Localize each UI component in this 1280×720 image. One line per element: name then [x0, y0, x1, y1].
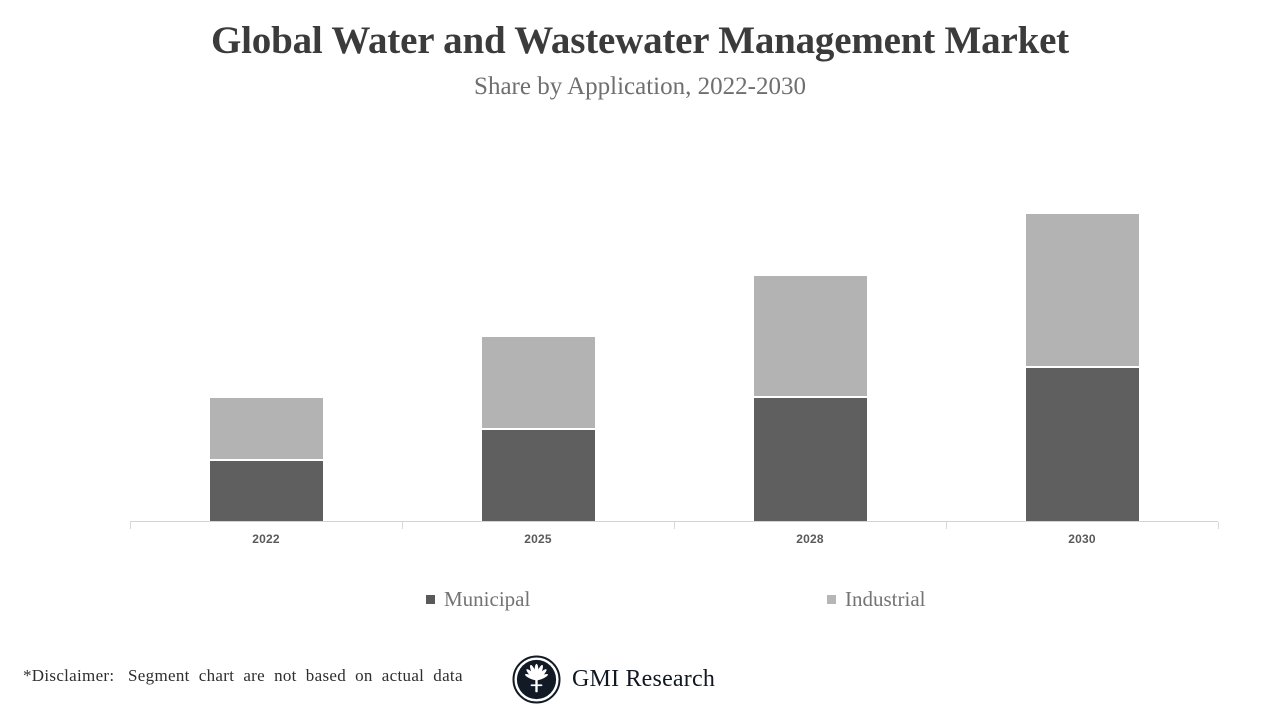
bar-group-2022 [210, 180, 323, 522]
legend-label-municipal: Municipal [444, 585, 530, 613]
bar-group-2025 [482, 180, 595, 522]
plot-area [130, 180, 1218, 522]
bar-segment-municipal-2030[interactable] [1026, 368, 1139, 522]
bar-segment-municipal-2022[interactable] [210, 461, 323, 522]
x-axis-label-2028: 2028 [674, 532, 946, 546]
bar-segment-municipal-2025[interactable] [482, 430, 595, 522]
bar-segment-municipal-2028[interactable] [754, 398, 867, 522]
x-axis-label-2022: 2022 [130, 532, 402, 546]
x-axis-tick [1218, 522, 1219, 529]
brand-block: GMI Research [512, 654, 715, 704]
x-axis-tick [130, 522, 131, 529]
x-axis-label-2025: 2025 [402, 532, 674, 546]
disclaimer-text: *Disclaimer: Segment chart are not based… [23, 666, 463, 686]
x-axis-tick [946, 522, 947, 529]
legend-item-municipal[interactable]: Municipal [426, 585, 530, 613]
legend-label-industrial: Industrial [845, 585, 925, 613]
chart-canvas: Global Water and Wastewater Management M… [0, 0, 1280, 720]
brand-name: GMI Research [572, 666, 715, 693]
bar-segment-industrial-2022[interactable] [210, 398, 323, 459]
bar-group-2028 [754, 180, 867, 522]
x-axis-tick [402, 522, 403, 529]
legend-item-industrial[interactable]: Industrial [827, 585, 925, 613]
chart-subtitle: Share by Application, 2022-2030 [140, 71, 1140, 103]
gmi-palm-logo-icon [512, 655, 561, 704]
square-marker-icon [426, 595, 435, 604]
x-axis-label-2030: 2030 [946, 532, 1218, 546]
bar-segment-industrial-2028[interactable] [754, 276, 867, 396]
square-marker-icon [827, 595, 836, 604]
chart-legend: Municipal Industrial [0, 585, 1280, 613]
x-axis-tick [674, 522, 675, 529]
bar-segment-industrial-2030[interactable] [1026, 214, 1139, 366]
bar-segment-industrial-2025[interactable] [482, 337, 595, 428]
title-block: Global Water and Wastewater Management M… [140, 14, 1140, 103]
chart-title: Global Water and Wastewater Management M… [140, 14, 1140, 67]
bar-group-2030 [1026, 180, 1139, 522]
